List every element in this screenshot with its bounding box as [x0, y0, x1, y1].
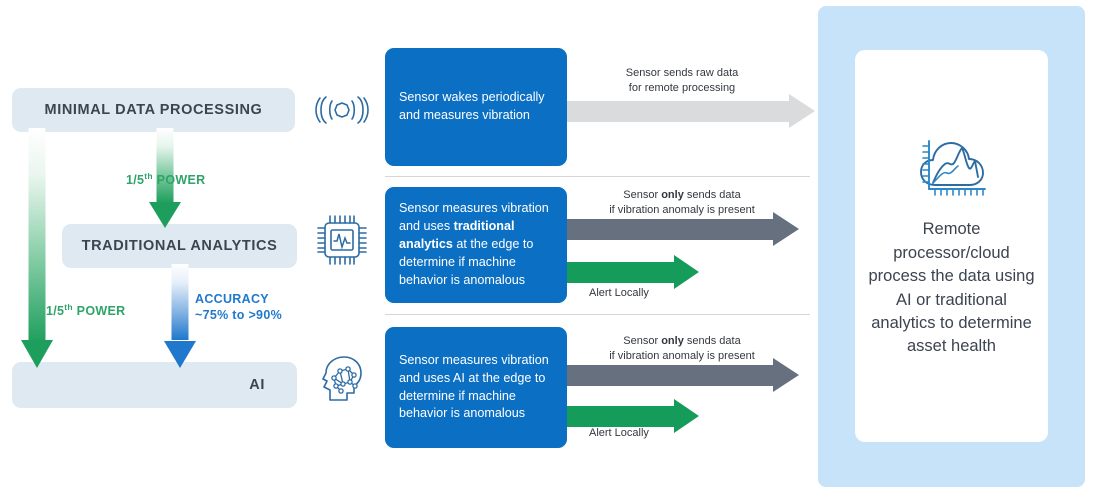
remote-cloud-text: Remote processor/cloud process the data … [864, 218, 1040, 359]
card-3-text: Sensor measures vibration and uses AI at… [399, 352, 553, 424]
cloud-analytics-icon [913, 133, 991, 204]
label-row2-line2: if vibration anomaly is present [592, 203, 772, 218]
label-power-top-suffix: POWER [153, 173, 206, 187]
arrow-tip [674, 399, 699, 433]
label-accuracy-line1: ACCURACY [195, 292, 282, 308]
card-remote-cloud: Remote processor/cloud process the data … [855, 50, 1048, 442]
box-ai: AI [12, 362, 297, 408]
label-row2-prefix: Sensor [623, 189, 661, 201]
card-2-text: Sensor measures vibration and uses tradi… [399, 200, 553, 289]
label-raw-line2: for remote processing [592, 81, 772, 96]
arrow-bar [567, 219, 773, 240]
card-traditional-analytics-edge: Sensor measures vibration and uses tradi… [385, 187, 567, 303]
label-row2-suffix: sends data [684, 189, 741, 201]
label-alert-locally-row2: Alert Locally [589, 287, 649, 299]
label-sends-raw-data: Sensor sends raw data for remote process… [592, 66, 772, 96]
label-row2-line1: Sensor only sends data [592, 188, 772, 203]
arrow-bar [567, 101, 789, 122]
label-power-left: 1/5th POWER [46, 302, 125, 320]
label-row2-bold: only [661, 189, 684, 201]
card-ai-edge: Sensor measures vibration and uses AI at… [385, 327, 567, 448]
arrow-tip [789, 94, 815, 128]
arrow-head [21, 340, 53, 368]
brain-head-icon [309, 350, 371, 408]
label-row3-line2: if vibration anomaly is present [592, 349, 772, 364]
arrow-bar [567, 262, 674, 283]
label-power-top-prefix: 1/5 [126, 173, 144, 187]
arrow-power-minimal-to-ai [20, 128, 54, 368]
arrow-head [149, 202, 181, 228]
label-accuracy: ACCURACY ~75% to >90% [195, 292, 282, 323]
arrow-bar [567, 406, 674, 427]
label-power-left-suffix: POWER [73, 304, 126, 318]
arrow-raw-data-to-cloud [567, 94, 815, 128]
label-alert-locally-row3: Alert Locally [589, 427, 649, 439]
arrow-shaft [172, 264, 189, 340]
arrow-accuracy-traditional-to-ai [163, 264, 197, 368]
label-row3-line1: Sensor only sends data [592, 334, 772, 349]
diagram-canvas: MINIMAL DATA PROCESSING TRADITIONAL ANAL… [0, 0, 1100, 493]
arrow-head [164, 341, 196, 368]
card-sensor-wakes: Sensor wakes periodically and measures v… [385, 48, 567, 166]
arrow-tip [773, 212, 799, 246]
label-power-left-prefix: 1/5 [46, 304, 64, 318]
arrow-tip [773, 358, 799, 392]
box-traditional-label: TRADITIONAL ANALYTICS [82, 238, 278, 254]
label-row3-suffix: sends data [684, 335, 741, 347]
arrow-shaft [157, 128, 174, 202]
arrow-bar [567, 365, 773, 386]
box-ai-label: AI [249, 377, 265, 393]
box-minimal-label: MINIMAL DATA PROCESSING [45, 102, 263, 118]
arrow-shaft [29, 128, 46, 340]
row-separator-2 [385, 314, 810, 315]
label-power-left-sup: th [64, 302, 73, 312]
label-row3-bold: only [661, 335, 684, 347]
label-power-top-sup: th [144, 171, 153, 181]
arrow-alert-locally-row2 [567, 255, 699, 289]
card-1-text: Sensor wakes periodically and measures v… [399, 89, 553, 125]
arrow-tip [674, 255, 699, 289]
box-minimal-data-processing: MINIMAL DATA PROCESSING [12, 88, 295, 132]
label-accuracy-line2: ~75% to >90% [195, 308, 282, 324]
row-separator-1 [385, 176, 810, 177]
vibration-icon [311, 84, 373, 142]
label-row3-prefix: Sensor [623, 335, 661, 347]
chip-icon [311, 211, 373, 269]
label-power-top: 1/5th POWER [126, 171, 205, 189]
label-only-sends-data-row3: Sensor only sends data if vibration anom… [592, 334, 772, 364]
label-raw-line1: Sensor sends raw data [592, 66, 772, 81]
box-traditional-analytics: TRADITIONAL ANALYTICS [62, 224, 297, 268]
label-only-sends-data-row2: Sensor only sends data if vibration anom… [592, 188, 772, 218]
